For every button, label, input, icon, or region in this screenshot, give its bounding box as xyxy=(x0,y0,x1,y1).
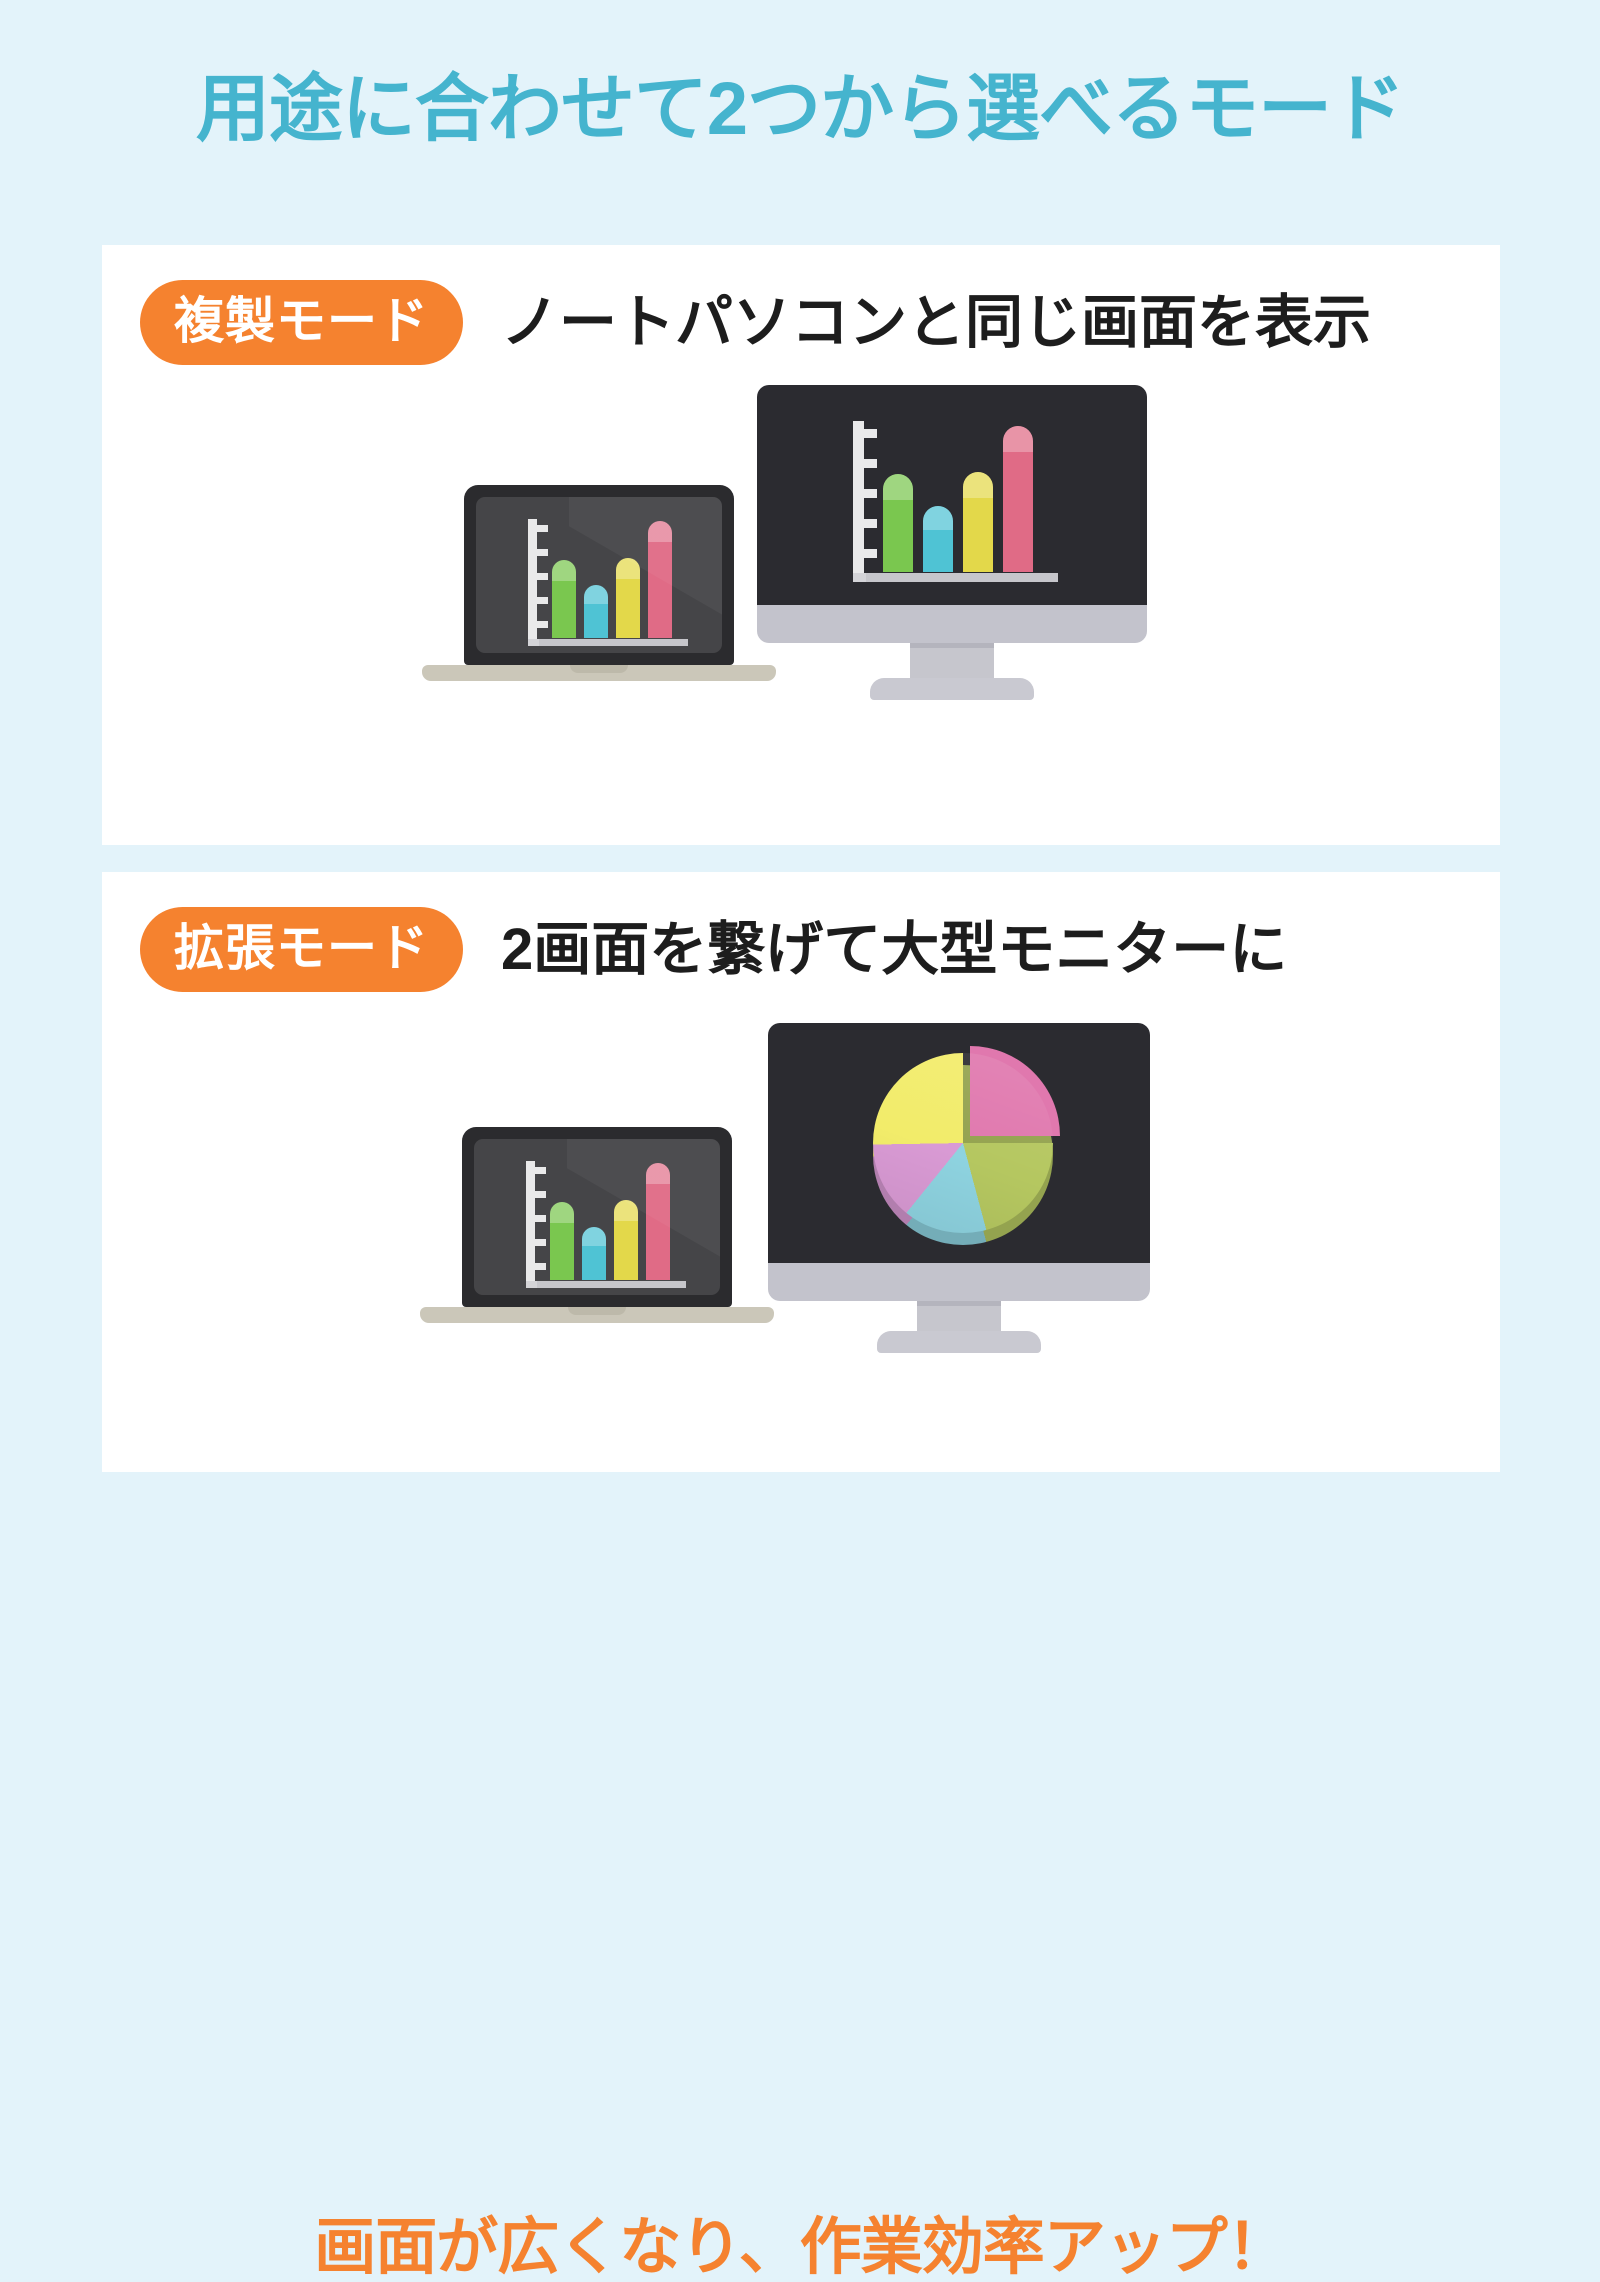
bar-1 xyxy=(552,560,576,638)
bar-chart-tick-1 xyxy=(537,525,548,532)
bar-chart-tick-2 xyxy=(864,459,877,468)
bar-chart-tick-4 xyxy=(537,597,548,604)
bar-chart-x-axis xyxy=(537,1281,686,1288)
bar-chart-tick-4 xyxy=(535,1239,546,1246)
bar-1-highlight xyxy=(552,560,576,581)
bar-chart-y-axis xyxy=(853,421,864,573)
bar-1 xyxy=(883,474,913,572)
bar-chart-tick-2 xyxy=(537,549,548,556)
bar-chart-laptop-extend xyxy=(526,1161,686,1287)
monitor-chin-duplicate xyxy=(757,605,1147,643)
bar-chart-y-axis xyxy=(528,519,537,639)
monitor-foot-duplicate xyxy=(870,678,1034,700)
bar-chart-tick-3 xyxy=(864,489,877,498)
bar-chart-tick-1 xyxy=(864,429,877,438)
caption-extend-mode: 画面が広くなり、作業効率アップ！ xyxy=(102,2217,1500,2279)
monitor-chin-extend xyxy=(768,1263,1150,1301)
bar-4-highlight xyxy=(1003,426,1033,452)
laptop-duplicate xyxy=(422,485,802,685)
bar-4-highlight xyxy=(648,521,672,542)
bar-chart-tick-4 xyxy=(864,519,877,528)
laptop-screen-extend xyxy=(474,1139,720,1295)
panel-duplicate-mode: 複製モード ノートパソコンと同じ画面を表示 xyxy=(102,245,1500,845)
bar-chart-x-axis xyxy=(539,639,688,646)
bar-chart-monitor-duplicate xyxy=(853,421,1058,581)
bar-chart-tick-5 xyxy=(535,1263,546,1270)
monitor-neck-extend xyxy=(917,1306,1001,1334)
bar-chart-laptop-duplicate xyxy=(528,519,688,645)
bar-3 xyxy=(614,1200,638,1280)
bar-chart-tick-3 xyxy=(537,573,548,580)
bar-chart-tick-5 xyxy=(537,621,548,628)
bar-chart-tick-2 xyxy=(535,1191,546,1198)
page-title: 用途に合わせて2つから選べるモード xyxy=(0,68,1600,149)
bar-3-highlight xyxy=(616,558,640,579)
pie-chart-shading xyxy=(873,1053,1053,1233)
bar-chart-y-axis xyxy=(526,1161,535,1281)
bar-2-highlight xyxy=(923,506,953,530)
bar-3-highlight xyxy=(614,1200,638,1221)
bar-1 xyxy=(550,1202,574,1280)
heading-duplicate-mode: ノートパソコンと同じ画面を表示 xyxy=(501,294,1371,352)
badge-extend-mode: 拡張モード xyxy=(140,907,463,992)
bar-2-highlight xyxy=(582,1227,606,1246)
bar-2 xyxy=(582,1227,606,1280)
badge-duplicate-mode: 複製モード xyxy=(140,280,463,365)
laptop-screen-duplicate xyxy=(476,497,722,653)
bar-3 xyxy=(616,558,640,638)
infographic-page: 用途に合わせて2つから選べるモード 複製モード ノートパソコンと同じ画面を表示 xyxy=(0,0,1600,1600)
monitor-foot-extend xyxy=(877,1331,1041,1353)
bar-4 xyxy=(648,521,672,638)
monitor-screen-extend xyxy=(768,1023,1150,1263)
bar-1-highlight xyxy=(883,474,913,500)
bar-2 xyxy=(584,585,608,638)
bar-2 xyxy=(923,506,953,572)
heading-extend-mode: 2画面を繋げて大型モニターに xyxy=(501,921,1287,979)
bar-2-highlight xyxy=(584,585,608,604)
bar-chart-x-axis xyxy=(866,573,1058,582)
monitor-neck-duplicate xyxy=(910,648,994,681)
laptop-base-notch-duplicate xyxy=(570,665,628,673)
panel-extend-mode: 拡張モード 2画面を繋げて大型モニターに xyxy=(102,872,1500,1472)
mode-row-duplicate: 複製モード ノートパソコンと同じ画面を表示 xyxy=(140,280,1371,365)
bar-3 xyxy=(963,472,993,572)
pie-chart-monitor-extend xyxy=(873,1053,1053,1233)
bar-1-highlight xyxy=(550,1202,574,1223)
laptop-lid-duplicate xyxy=(464,485,734,665)
bar-4-highlight xyxy=(646,1163,670,1184)
monitor-extend xyxy=(768,1023,1150,1343)
monitor-screen-duplicate xyxy=(757,385,1147,605)
bar-chart-tick-3 xyxy=(535,1215,546,1222)
monitor-duplicate xyxy=(757,385,1147,705)
bar-4 xyxy=(646,1163,670,1280)
laptop-lid-extend xyxy=(462,1127,732,1307)
bar-3-highlight xyxy=(963,472,993,498)
bar-chart-tick-1 xyxy=(535,1167,546,1174)
laptop-extend xyxy=(420,1127,800,1327)
laptop-base-notch-extend xyxy=(568,1307,626,1315)
mode-row-extend: 拡張モード 2画面を繋げて大型モニターに xyxy=(140,907,1287,992)
bar-chart-tick-5 xyxy=(864,549,877,558)
bar-4 xyxy=(1003,426,1033,572)
